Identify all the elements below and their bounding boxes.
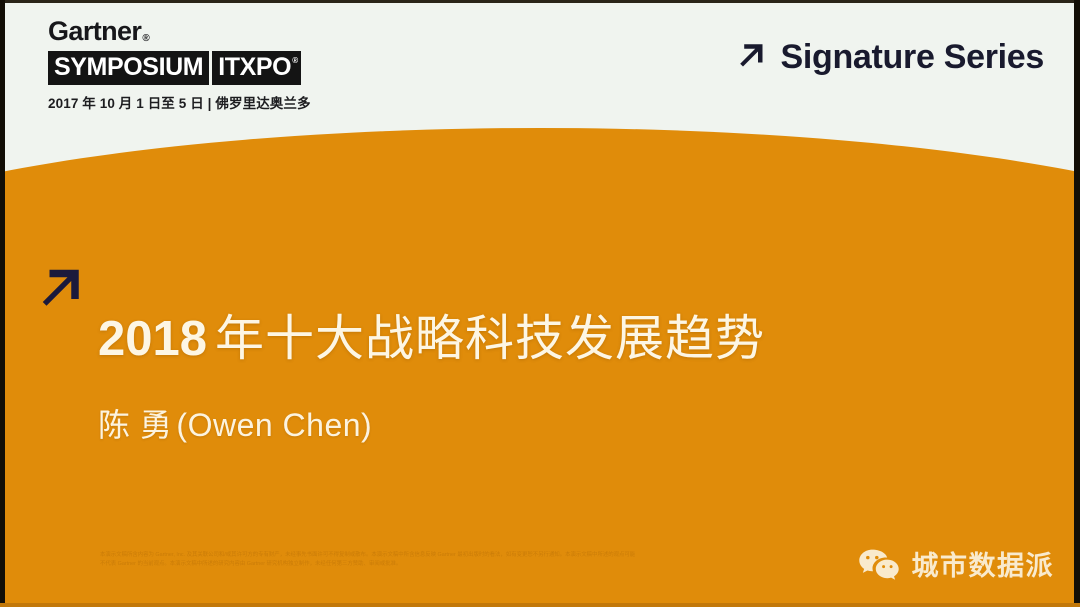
gartner-event-logo: Gartner ® SYMPOSIUM ITXPO® 2017 年 10 月 1… [48, 18, 318, 112]
wechat-watermark-label: 城市数据派 [912, 553, 1055, 580]
slide-title-text: 年十大战略科技发展趋势 [215, 312, 765, 366]
arrow-up-right-icon [736, 41, 768, 73]
registered-trademark-icon: ® [142, 34, 149, 44]
signature-series-logo: Signature Series [736, 40, 1044, 74]
speaker-name-en: (Owen Chen) [176, 407, 372, 443]
event-date-location: 2017 年 10 月 1 日至 5 日 | 佛罗里达奥兰多 [48, 92, 318, 112]
symposium-itxpo-bar: SYMPOSIUM ITXPO® [48, 51, 318, 85]
wechat-icon [857, 547, 901, 585]
slide-title: 2018年十大战略科技发展趋势 [98, 312, 765, 367]
presentation-slide: Gartner ® SYMPOSIUM ITXPO® 2017 年 10 月 1… [0, 0, 1080, 607]
orange-arc-shape [0, 128, 1080, 200]
speaker-name-cn: 陈 勇 [98, 407, 172, 443]
symposium-block: SYMPOSIUM [48, 51, 209, 85]
speaker-name: 陈 勇(Owen Chen) [98, 406, 372, 444]
signature-series-label: Signature Series [780, 40, 1044, 74]
frame-edge-bottom [0, 603, 1080, 607]
registered-trademark-icon: ® [292, 57, 298, 65]
legal-disclaimer: 本演示文稿所含内容为 Gartner, Inc. 及其关联公司和/或其许可方的专… [100, 551, 640, 569]
itxpo-block: ITXPO® [212, 51, 301, 85]
wechat-watermark: 城市数据派 [857, 547, 1055, 585]
arrow-up-right-icon [38, 266, 88, 314]
itxpo-label: ITXPO [218, 55, 291, 80]
gartner-wordmark: Gartner ® [48, 18, 318, 45]
slide-title-year: 2018 [98, 312, 207, 366]
gartner-wordmark-text: Gartner [48, 18, 141, 45]
